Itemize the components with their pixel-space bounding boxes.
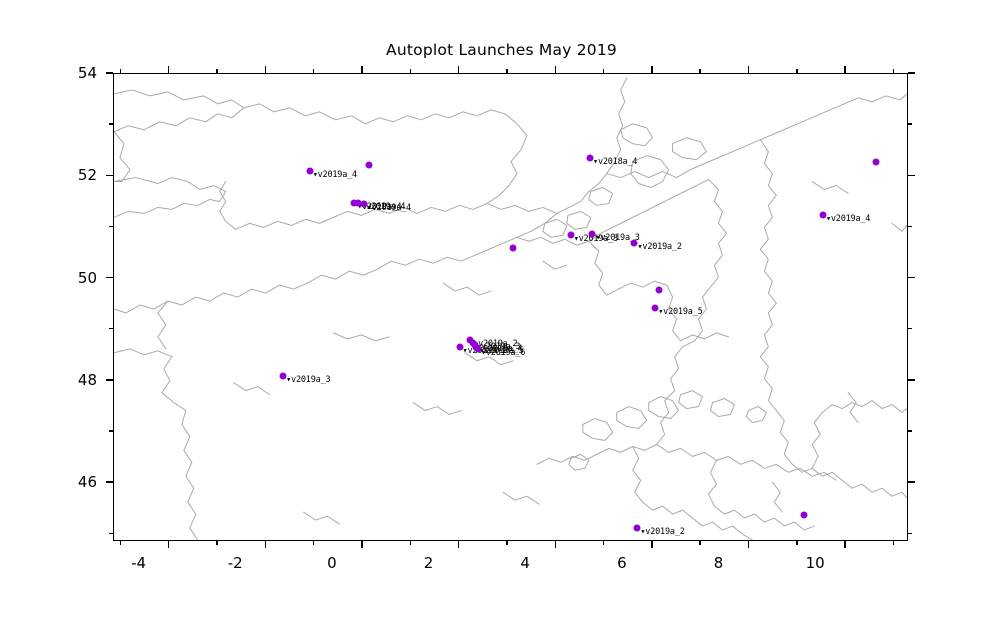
x-tick-minor (410, 541, 411, 545)
x-tick-major-inner (844, 66, 845, 73)
y-tick-minor-inner (908, 533, 912, 534)
y-tick-minor-inner (908, 123, 912, 124)
x-tick-minor-inner (506, 69, 507, 73)
y-tick-minor-inner (908, 430, 912, 431)
x-tick-major-inner (651, 66, 652, 73)
y-tick-label: 48 (35, 371, 97, 389)
y-tick-major (106, 175, 113, 176)
y-tick-minor (109, 430, 113, 431)
x-tick-label: 8 (689, 554, 749, 572)
x-tick-minor-inner (120, 69, 121, 73)
y-tick-major-inner (908, 481, 915, 482)
x-tick-label: -2 (205, 554, 265, 572)
x-tick-major (265, 541, 266, 548)
x-tick-major-inner (748, 66, 749, 73)
x-tick-minor-inner (796, 69, 797, 73)
y-tick-major-inner (908, 175, 915, 176)
data-point-label: ▾v2019a_2 (640, 527, 684, 537)
x-tick-minor-inner (410, 69, 411, 73)
x-tick-label: -4 (109, 554, 169, 572)
x-tick-major (168, 541, 169, 548)
data-point-label: ▾v2019a_4 (826, 214, 870, 224)
x-tick-major-inner (265, 66, 266, 73)
y-tick-label: 54 (35, 64, 97, 82)
figure-canvas: Autoplot Launches May 2019 (0, 0, 1003, 633)
y-tick-minor (109, 328, 113, 329)
y-tick-minor-inner (908, 226, 912, 227)
x-tick-label: 10 (785, 554, 845, 572)
y-tick-major-inner (908, 277, 915, 278)
x-tick-minor (216, 541, 217, 545)
x-tick-minor-inner (893, 69, 894, 73)
y-tick-minor (109, 533, 113, 534)
data-point-marker (509, 244, 516, 251)
x-tick-label: 6 (592, 554, 652, 572)
data-point-label: ▾v2019a_4 (313, 170, 357, 180)
x-tick-minor (699, 541, 700, 545)
y-tick-major (106, 72, 113, 73)
y-tick-major (106, 379, 113, 380)
data-point-label: ▾v2019a_2 (637, 242, 681, 252)
x-tick-minor (120, 541, 121, 545)
x-tick-minor-inner (216, 69, 217, 73)
chart-title: Autoplot Launches May 2019 (0, 41, 1003, 59)
x-tick-major (458, 541, 459, 548)
x-tick-minor (313, 541, 314, 545)
x-tick-label: 0 (302, 554, 362, 572)
y-tick-minor (109, 123, 113, 124)
y-tick-label: 46 (35, 473, 97, 491)
y-tick-label: 50 (35, 269, 97, 287)
y-tick-major (106, 481, 113, 482)
x-tick-minor (506, 541, 507, 545)
y-tick-label: 52 (35, 166, 97, 184)
data-point-marker (365, 162, 372, 169)
data-point-marker (873, 159, 880, 166)
x-tick-minor-inner (603, 69, 604, 73)
x-tick-major (555, 541, 556, 548)
x-tick-minor-inner (699, 69, 700, 73)
x-tick-minor (893, 541, 894, 545)
x-tick-major (651, 541, 652, 548)
x-tick-major-inner (168, 66, 169, 73)
data-point-label: ▾v2019a_4 (367, 203, 411, 213)
data-point-label: ▾v2019a_5 (658, 307, 702, 317)
plot-area[interactable]: ▾v2019a_4▾v2019a_4▾v2019a_4▾v2019a_4▾v20… (113, 73, 908, 541)
x-tick-major-inner (361, 66, 362, 73)
x-tick-minor-inner (313, 69, 314, 73)
x-tick-label: 2 (399, 554, 459, 572)
x-tick-minor (603, 541, 604, 545)
y-tick-major-inner (908, 379, 915, 380)
data-point-label: ▾v2019a_3 (286, 375, 330, 385)
y-tick-major (106, 277, 113, 278)
x-tick-major-inner (555, 66, 556, 73)
x-tick-major (361, 541, 362, 548)
x-tick-major (844, 541, 845, 548)
data-point-label: ▾v2018a_4 (593, 157, 637, 167)
x-tick-major-inner (458, 66, 459, 73)
x-tick-label: 4 (495, 554, 555, 572)
x-tick-major (748, 541, 749, 548)
data-point-marker (800, 511, 807, 518)
data-point-label: ▾v2019a_6 (481, 348, 525, 358)
y-tick-minor (109, 226, 113, 227)
data-points-layer: ▾v2019a_4▾v2019a_4▾v2019a_4▾v2019a_4▾v20… (114, 74, 907, 540)
x-tick-minor (796, 541, 797, 545)
y-tick-major-inner (908, 72, 915, 73)
y-tick-minor-inner (908, 328, 912, 329)
data-point-marker (655, 286, 662, 293)
